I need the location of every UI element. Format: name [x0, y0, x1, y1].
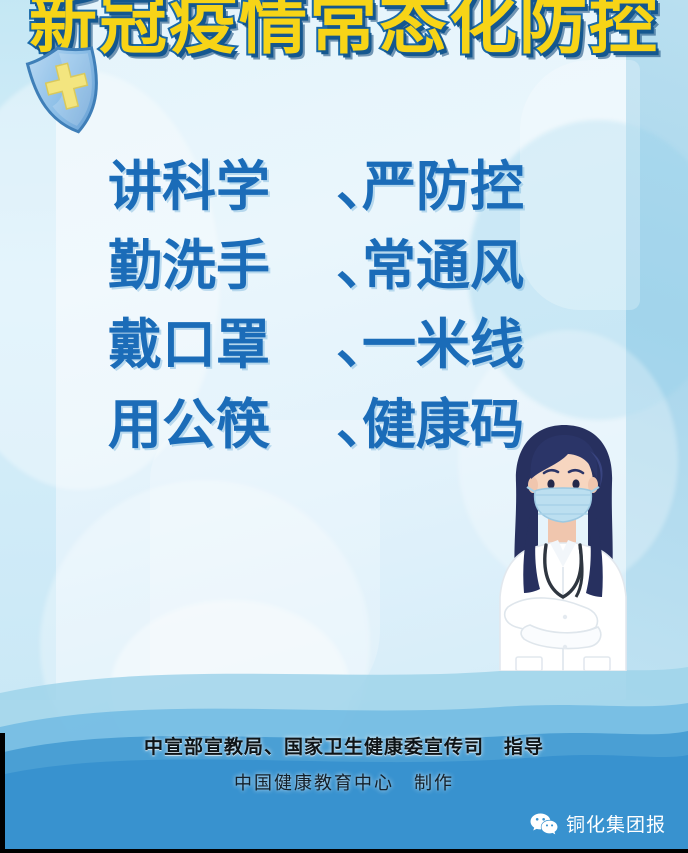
slogan-separator: 、	[336, 316, 362, 373]
slogan-right: 一米线	[362, 316, 524, 373]
page-title: 新冠疫情常态化防控	[0, 0, 688, 67]
slogan-left: 戴口罩	[108, 316, 336, 373]
slogan-separator: 、	[336, 396, 362, 453]
bottom-edge	[0, 849, 688, 853]
watermark-label: 铜化集团报	[566, 810, 666, 837]
watermark: 铜化集团报	[530, 810, 666, 837]
slogan-left: 用公筷	[108, 396, 336, 453]
slogan-separator: 、	[336, 158, 362, 215]
slogan-right: 严防控	[362, 158, 524, 215]
wechat-icon	[530, 812, 558, 836]
slogan-line: 戴口罩 、 一米线	[108, 316, 578, 373]
female-doctor-mask-illustration	[472, 421, 652, 671]
slogan-separator: 、	[336, 237, 362, 294]
credit-line-producer: 中国健康教育中心 制作	[0, 769, 688, 795]
poster-root: 新冠疫情常态化防控 讲科学 、 严防控 勤洗手 、 常通风	[0, 0, 688, 853]
left-edge	[0, 733, 5, 853]
slogan-left: 勤洗手	[108, 237, 336, 294]
slogan-line: 讲科学 、 严防控	[108, 158, 578, 215]
slogan-left: 讲科学	[108, 158, 336, 215]
slogan-line: 勤洗手 、 常通风	[108, 237, 578, 294]
credits-block: 中宣部宣教局、国家卫生健康委宣传司 指导 中国健康教育中心 制作	[0, 732, 688, 795]
credit-line-guidance: 中宣部宣教局、国家卫生健康委宣传司 指导	[0, 732, 688, 759]
slogan-right: 常通风	[362, 237, 524, 294]
